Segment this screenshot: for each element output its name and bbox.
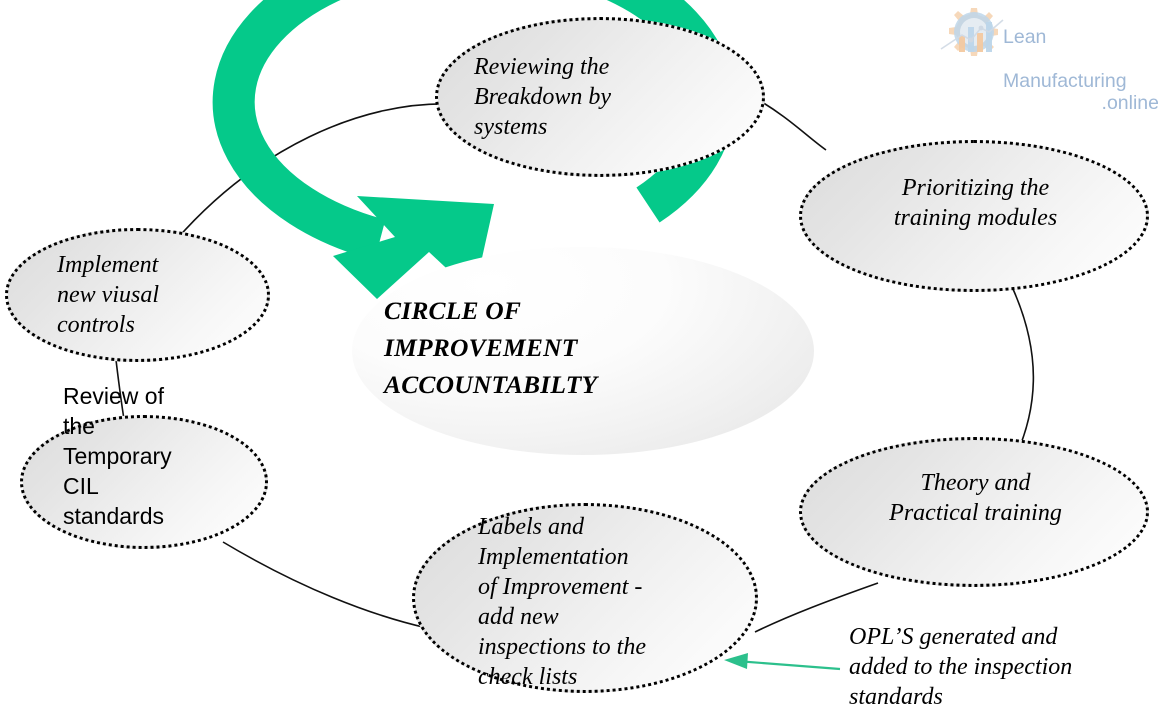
annotation-arrow-line (736, 661, 840, 669)
watermark-line-3: .online (1003, 92, 1158, 114)
watermark-line-2: Manufacturing (1003, 70, 1127, 92)
diagram-canvas: CIRCLE OF IMPROVEMENT ACCOUNTABILTY Revi… (0, 0, 1158, 718)
watermark-line-1: Lean (1003, 26, 1046, 48)
annotation-arrow (0, 0, 1158, 718)
gear-bar-chart-icon (941, 8, 1003, 56)
annotation-arrow-head (724, 653, 748, 669)
opl-annotation-text: OPL’S generated and added to the inspect… (849, 622, 1149, 712)
watermark-text: Lean Manufacturing .online (1003, 4, 1158, 136)
